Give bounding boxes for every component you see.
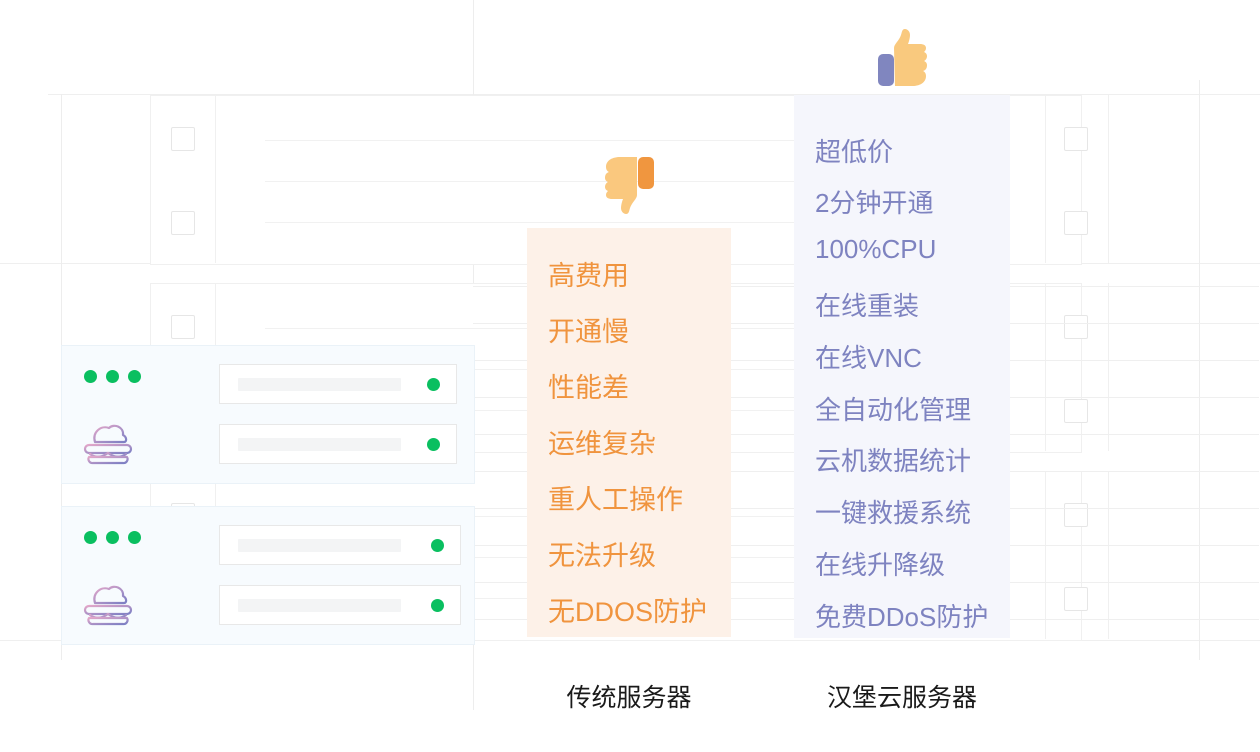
feature-item: 全自动化管理 xyxy=(794,390,1010,427)
server-row-field[interactable] xyxy=(219,585,461,625)
server-row-field[interactable] xyxy=(219,364,457,404)
window-dot xyxy=(106,370,119,383)
feature-item: 100%CPU xyxy=(794,234,1010,265)
window-dot xyxy=(106,531,119,544)
feature-item: 云机数据统计 xyxy=(794,441,1010,478)
feature-item: 2分钟开通 xyxy=(794,183,1010,220)
bg-checkbox-column xyxy=(1045,283,1109,451)
row-placeholder-bar xyxy=(238,438,401,451)
feature-item: 免费DDoS防护 xyxy=(794,597,1010,634)
server-row-field[interactable] xyxy=(219,424,457,464)
traditional-server-caption: 传统服务器 xyxy=(527,678,731,714)
row-placeholder-bar xyxy=(238,539,401,552)
row-placeholder-bar xyxy=(238,599,401,612)
comparison-graphic: 高费用 开通慢 性能差 运维复杂 重人工操作 无法升级 无DDOS防护 超低价 … xyxy=(0,0,1260,752)
feature-item: 开通慢 xyxy=(527,310,731,349)
server-row-field[interactable] xyxy=(219,525,461,565)
status-indicator-online xyxy=(431,539,444,552)
console-card-2 xyxy=(61,506,475,645)
feature-item: 无法升级 xyxy=(527,534,731,573)
grid-vline xyxy=(1199,80,1200,660)
feature-item: 重人工操作 xyxy=(527,478,731,517)
hanbao-cloud-server-caption: 汉堡云服务器 xyxy=(794,678,1010,714)
feature-item: 在线重装 xyxy=(794,286,1010,323)
feature-item: 无DDOS防护 xyxy=(527,590,731,629)
console-card-1 xyxy=(61,345,475,484)
window-dot xyxy=(128,531,141,544)
bg-checkbox xyxy=(171,127,195,151)
feature-item: 高费用 xyxy=(527,254,731,293)
feature-item: 运维复杂 xyxy=(527,422,731,461)
feature-item: 在线VNC xyxy=(794,338,1010,375)
thumbs-down-icon xyxy=(600,155,660,220)
bg-checkbox-column xyxy=(150,95,216,263)
bg-checkbox xyxy=(171,315,195,339)
status-indicator-online xyxy=(427,438,440,451)
window-dot xyxy=(128,370,141,383)
status-indicator-online xyxy=(431,599,444,612)
feature-item: 在线升降级 xyxy=(794,545,1010,582)
window-dot xyxy=(84,370,97,383)
status-indicator-online xyxy=(427,378,440,391)
bg-checkbox-column xyxy=(1045,471,1109,639)
hanbao-cloud-server-column: 超低价 2分钟开通 100%CPU 在线重装 在线VNC 全自动化管理 云机数据… xyxy=(794,95,1010,638)
window-dots xyxy=(84,370,141,383)
feature-item: 性能差 xyxy=(527,366,731,405)
cloud-burger-logo-icon xyxy=(82,582,128,622)
traditional-server-column: 高费用 开通慢 性能差 运维复杂 重人工操作 无法升级 无DDOS防护 xyxy=(527,228,731,637)
bg-checkbox xyxy=(171,211,195,235)
thumbs-up-icon xyxy=(872,28,934,93)
feature-item: 超低价 xyxy=(794,132,1010,169)
bg-checkbox-column xyxy=(1045,95,1109,263)
feature-item: 一键救援系统 xyxy=(794,493,1010,530)
window-dot xyxy=(84,531,97,544)
cloud-burger-logo-icon xyxy=(82,421,128,461)
window-dots xyxy=(84,531,141,544)
row-placeholder-bar xyxy=(238,378,401,391)
